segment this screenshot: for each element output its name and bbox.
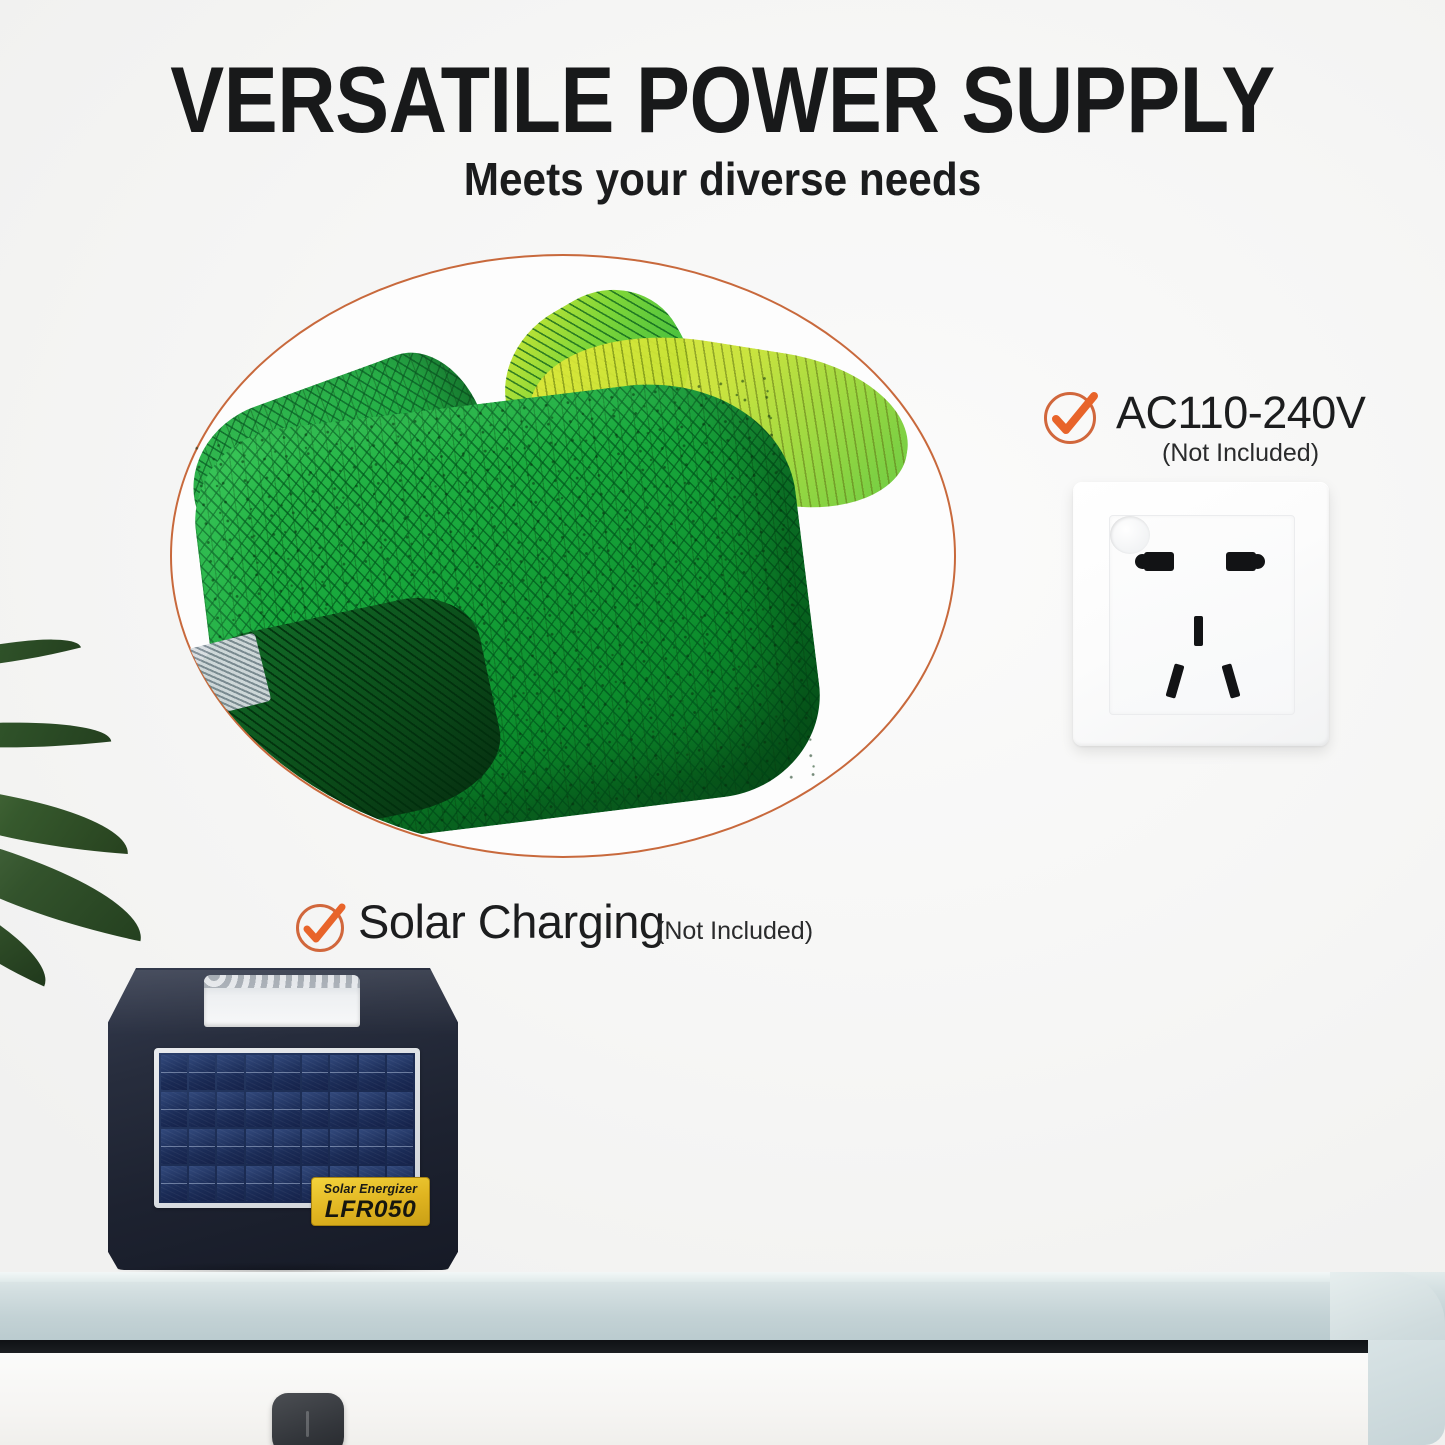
carry-handle (204, 975, 360, 1027)
feature-title: Solar Charging (358, 894, 665, 950)
plant-leaves (0, 640, 170, 1020)
cabinet-drawer (0, 1353, 1368, 1445)
socket-slot-bottom-left (1166, 663, 1185, 698)
socket-center-well (1110, 516, 1150, 554)
leaf-icon (0, 622, 81, 684)
badge-line-1: Solar Energizer (315, 1181, 426, 1197)
leaf-icon (0, 782, 132, 854)
feature-note: (Not Included) (656, 914, 813, 948)
leaf-icon (0, 708, 111, 763)
solar-energizer-unit: Solar Energizer LFR050 (108, 968, 458, 1270)
socket-slot-bottom-right (1222, 663, 1241, 698)
feature-title: AC110-240V (1116, 386, 1365, 440)
tabletop-highlight (0, 1272, 1360, 1282)
page-title: VERSATILE POWER SUPPLY (101, 52, 1344, 148)
cabinet-side-panel (1368, 1340, 1445, 1445)
socket-slot-top-left (1144, 552, 1174, 571)
socket-slot-center (1194, 616, 1203, 646)
socket-slot-top-right (1226, 552, 1256, 571)
feature-note: (Not Included) (1162, 438, 1319, 468)
product-image-netting: VEVOR (170, 254, 952, 854)
drawer-knob (272, 1393, 344, 1445)
check-circle-icon (296, 904, 344, 952)
badge-line-2: LFR050 (311, 1197, 430, 1223)
wall-socket (1073, 482, 1329, 746)
cabinet-gap (0, 1340, 1368, 1353)
model-badge: Solar Energizer LFR050 (311, 1177, 430, 1226)
tabletop-surface (0, 1272, 1445, 1344)
page-subtitle: Meets your diverse needs (58, 152, 1387, 206)
product-marketing-image: VERSATILE POWER SUPPLY Meets your divers… (0, 0, 1445, 1445)
check-circle-icon (1044, 392, 1096, 444)
socket-face (1109, 515, 1295, 715)
